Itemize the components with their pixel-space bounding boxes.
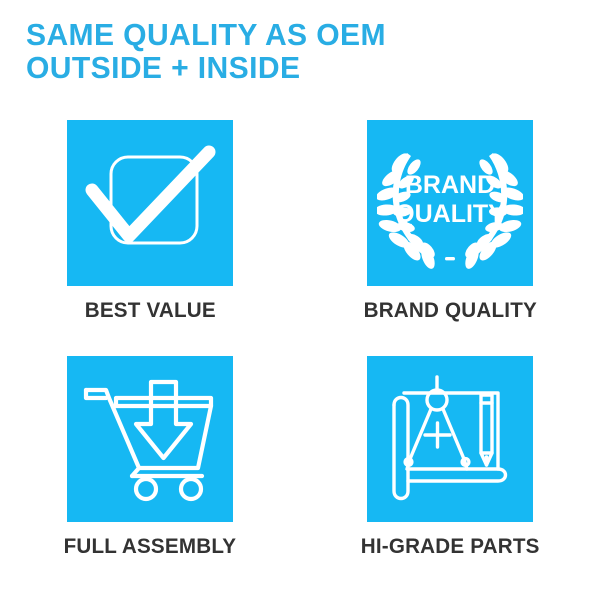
- badge-text-quality: QUALITY: [395, 200, 505, 228]
- blueprint-compass-pencil-icon: [380, 373, 520, 505]
- feature-tile-best-value: [67, 120, 233, 286]
- checkbox-check-icon: [80, 133, 220, 273]
- feature-tile-hi-grade-parts: [367, 356, 533, 522]
- feature-label-full-assembly: FULL ASSEMBLY: [64, 534, 237, 558]
- feature-item-best-value[interactable]: BEST VALUE: [0, 120, 300, 322]
- laurel-wreath-icon: BRAND QUALITY: [377, 133, 523, 273]
- page-title-line-2: OUTSIDE + INSIDE: [26, 51, 550, 84]
- feature-item-hi-grade-parts[interactable]: HI-GRADE PARTS: [300, 356, 600, 558]
- feature-label-brand-quality: BRAND QUALITY: [363, 298, 536, 322]
- feature-tile-brand-quality: BRAND QUALITY: [367, 120, 533, 286]
- feature-grid: BEST VALUE: [0, 120, 600, 558]
- feature-label-best-value: BEST VALUE: [84, 298, 215, 322]
- feature-item-full-assembly[interactable]: FULL ASSEMBLY: [0, 356, 300, 558]
- page-title: SAME QUALITY AS OEM OUTSIDE + INSIDE: [26, 18, 566, 84]
- shopping-cart-download-icon: [80, 376, 220, 502]
- feature-tile-full-assembly: [67, 356, 233, 522]
- page-title-line-1: SAME QUALITY AS OEM: [26, 18, 550, 51]
- badge-text-brand: BRAND: [405, 171, 495, 199]
- feature-item-brand-quality[interactable]: BRAND QUALITY BRAND QUALITY: [300, 120, 600, 322]
- feature-label-hi-grade-parts: HI-GRADE PARTS: [361, 534, 540, 558]
